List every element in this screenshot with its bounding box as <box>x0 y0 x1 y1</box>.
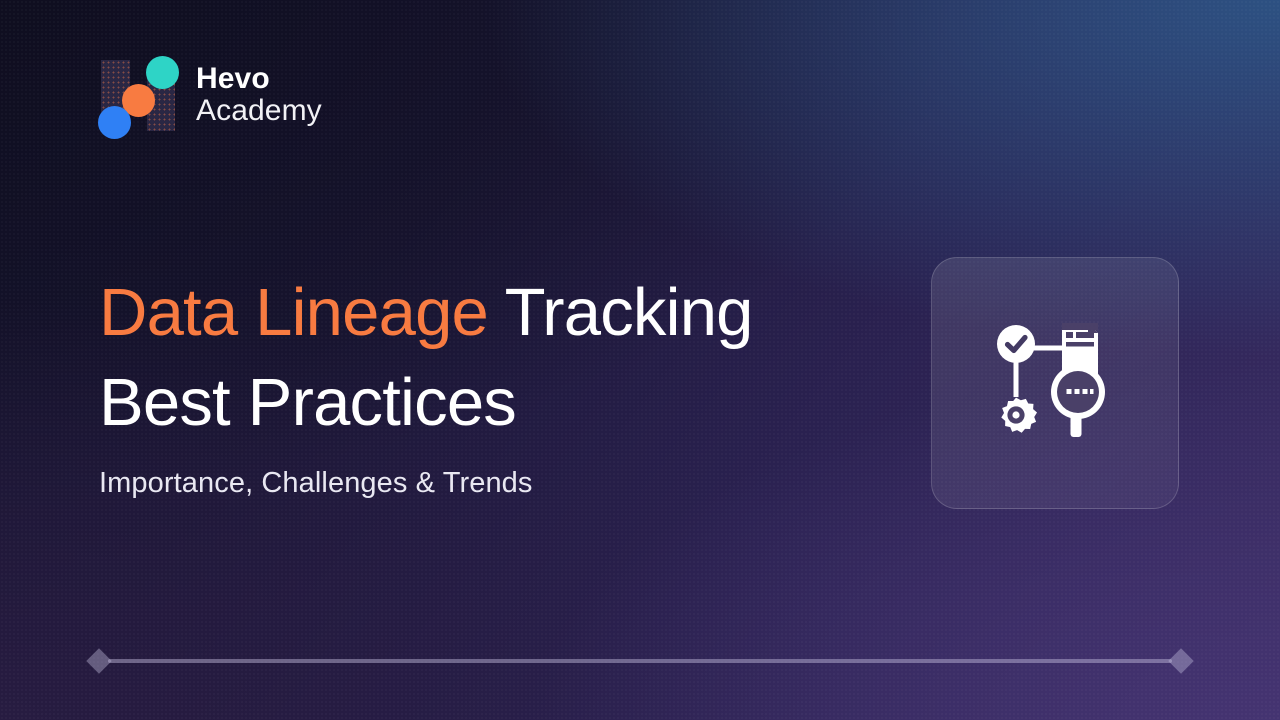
title-plain-text: Tracking <box>488 275 753 350</box>
hevo-logo-icon <box>96 52 178 138</box>
page-title: Data Lineage Tracking Best Practices <box>99 268 753 448</box>
brand-wordmark: Hevo Academy <box>196 63 322 128</box>
magnifier-icon <box>1051 365 1105 437</box>
title-accent-text: Data Lineage <box>99 275 488 350</box>
brand-subtitle: Academy <box>196 95 322 127</box>
divider <box>90 650 1190 672</box>
divider-bar <box>108 659 1172 663</box>
slide-canvas: Hevo Academy Data Lineage Tracking Best … <box>0 0 1280 720</box>
divider-diamond-end-icon <box>1168 648 1193 673</box>
page-subtitle: Importance, Challenges & Trends <box>99 467 533 500</box>
brand-name: Hevo <box>196 63 322 95</box>
title-line-2-text: Best Practices <box>99 365 516 440</box>
logo-dot-teal-icon <box>146 56 179 89</box>
title-line-2: Best Practices <box>99 358 753 448</box>
title-line-1: Data Lineage Tracking <box>99 268 753 358</box>
check-circle-icon <box>997 325 1035 363</box>
brand-logo[interactable]: Hevo Academy <box>96 52 322 138</box>
data-lineage-inspection-icon <box>990 319 1120 447</box>
connector-line-horizontal <box>1033 346 1066 351</box>
logo-dot-blue-icon <box>98 106 131 139</box>
gear-icon <box>1001 398 1037 433</box>
icon-card <box>931 257 1179 509</box>
